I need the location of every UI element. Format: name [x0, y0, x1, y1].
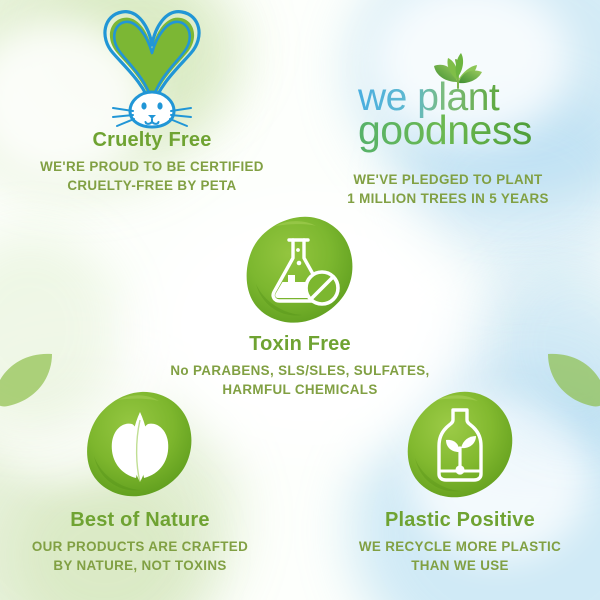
claim-we-plant-goodness: we plant goodness WE'VE PLEDGED TO PLANT…	[314, 52, 582, 208]
claim-cruelty-free: Cruelty Free WE'RE PROUD TO BE CERTIFIED…	[18, 14, 286, 195]
claim-description-line-1: WE'VE PLEDGED TO PLANT	[314, 170, 582, 189]
peta-logo	[18, 14, 286, 126]
claim-description-line-1: No PARABENS, SLS/SLES, SULFATES,	[166, 361, 434, 380]
claim-description: WE RECYCLE MORE PLASTIC THAN WE USE	[326, 537, 594, 575]
flask-no-toxin-icon	[244, 214, 356, 326]
claim-best-of-nature: Best of Nature OUR PRODUCTS ARE CRAFTED …	[6, 390, 274, 575]
sustainability-claims-poster: Cruelty Free WE'RE PROUD TO BE CERTIFIED…	[0, 0, 600, 600]
we-plant-goodness-logo-icon: we plant goodness	[356, 52, 541, 148]
claim-title: Plastic Positive	[326, 508, 594, 532]
claim-description-line-1: WE RECYCLE MORE PLASTIC	[326, 537, 594, 556]
toxin-free-badge	[244, 214, 356, 326]
three-leaves-icon	[84, 390, 196, 502]
claim-plastic-positive: Plastic Positive WE RECYCLE MORE PLASTIC…	[326, 390, 594, 575]
claim-title: Cruelty Free	[18, 128, 286, 152]
logo-text-line-2: goodness	[358, 107, 532, 153]
claim-title: Toxin Free	[166, 332, 434, 356]
claim-description-line-1: OUR PRODUCTS ARE CRAFTED	[6, 537, 274, 556]
plastic-positive-badge	[404, 390, 516, 502]
claim-description-line-2: THAN WE USE	[326, 556, 594, 575]
claim-description: WE'VE PLEDGED TO PLANT 1 MILLION TREES I…	[314, 170, 582, 208]
claim-toxin-free: Toxin Free No PARABENS, SLS/SLES, SULFAT…	[166, 214, 434, 399]
peta-bunny-logo-icon	[93, 9, 211, 131]
best-of-nature-badge	[84, 390, 196, 502]
we-plant-goodness-logo: we plant goodness	[356, 52, 541, 148]
claim-description: OUR PRODUCTS ARE CRAFTED BY NATURE, NOT …	[6, 537, 274, 575]
bottle-sprout-icon	[404, 390, 516, 502]
claim-description-line-2: 1 MILLION TREES IN 5 YEARS	[314, 189, 582, 208]
claim-title: Best of Nature	[6, 508, 274, 532]
claim-description-line-2: CRUELTY-FREE BY PETA	[18, 176, 286, 195]
claim-description-line-1: WE'RE PROUD TO BE CERTIFIED	[18, 157, 286, 176]
claim-description: WE'RE PROUD TO BE CERTIFIED CRUELTY-FREE…	[18, 157, 286, 195]
claim-description-line-2: BY NATURE, NOT TOXINS	[6, 556, 274, 575]
